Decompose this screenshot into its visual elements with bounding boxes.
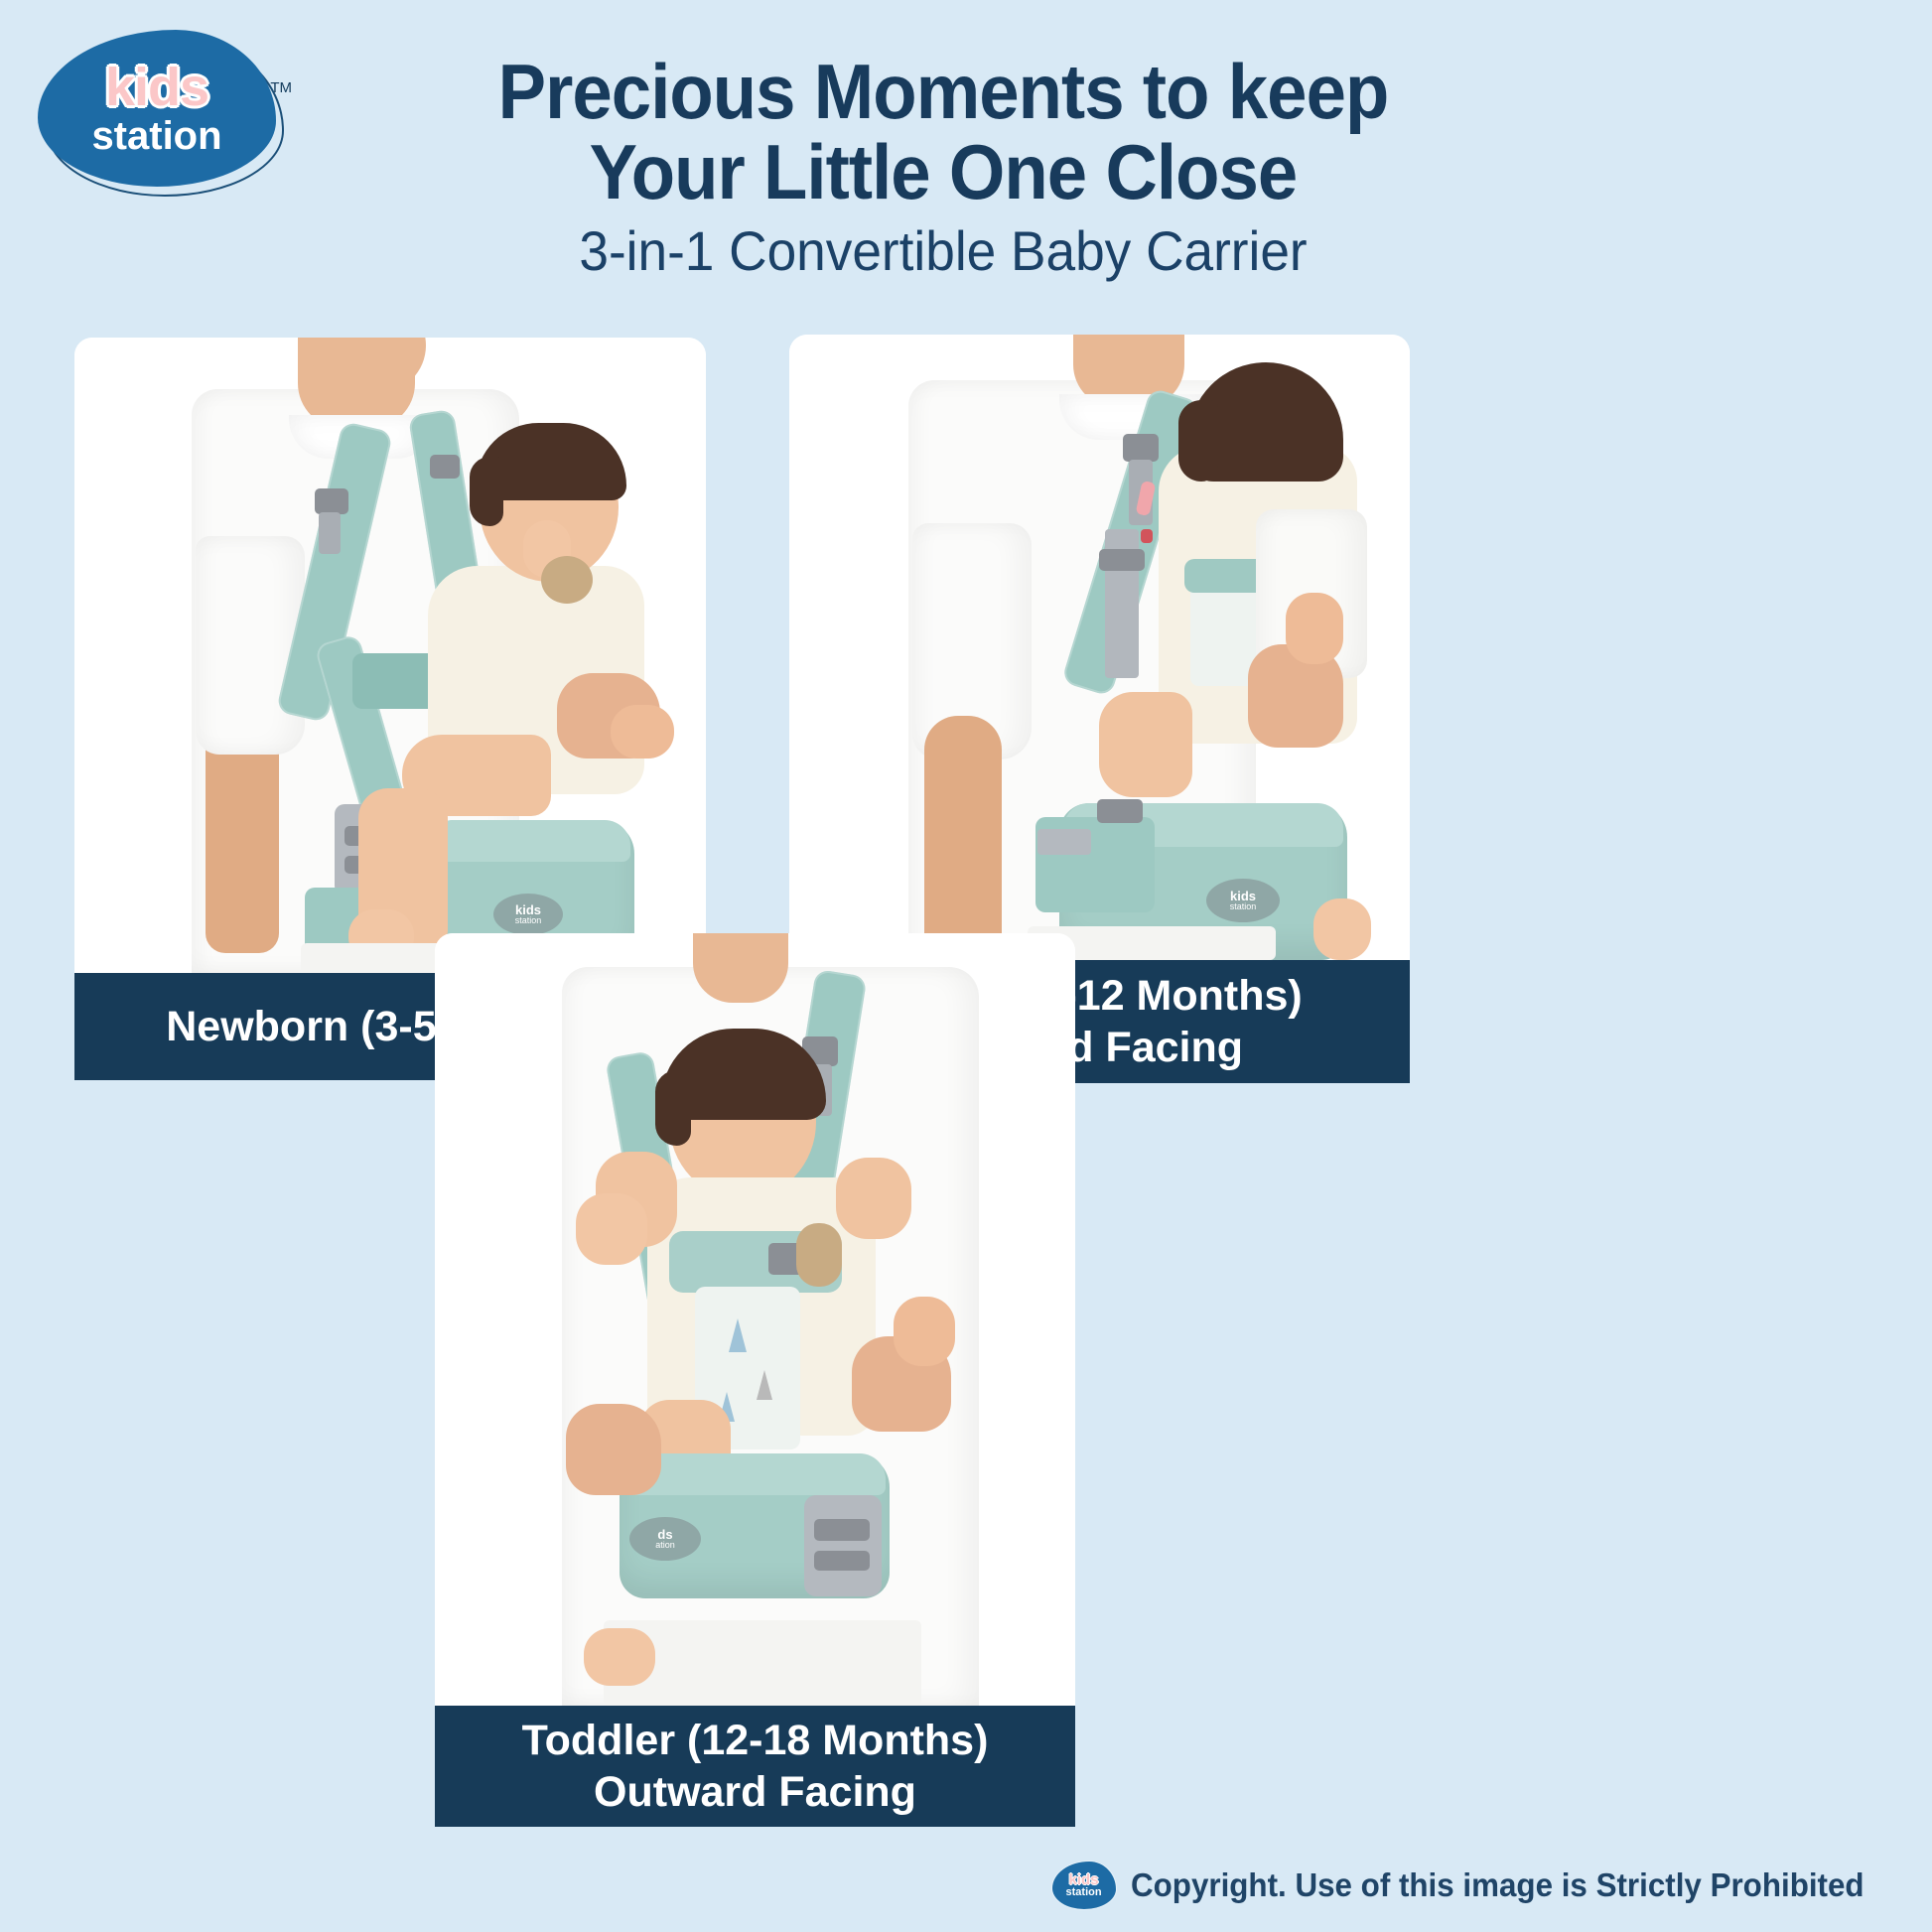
card-toddler-caption: Toddler (12-18 Months) Outward Facing	[435, 1706, 1075, 1827]
brand-logo: kids station TM	[30, 22, 298, 206]
logo-kids-text: kids	[105, 61, 208, 114]
footer: kids station Copyright. Use of this imag…	[0, 1861, 1932, 1910]
caption-line: Toddler (12-18 Months)	[522, 1715, 989, 1766]
card-toddler: ds ation Toddler (12-18 Months) Outward …	[435, 933, 1075, 1827]
logo-station-text: station	[91, 116, 221, 156]
footer-logo-kids-text: kids	[1069, 1872, 1099, 1887]
product-brand-patch: kids station	[1206, 879, 1280, 922]
patch-station-text: ation	[655, 1541, 675, 1550]
footer-logo-station-text: station	[1066, 1887, 1102, 1898]
product-brand-patch: ds ation	[629, 1517, 701, 1561]
trademark-icon: TM	[270, 79, 292, 96]
copyright-notice: Copyright. Use of this image is Strictly…	[1131, 1866, 1864, 1904]
card-toddler-photo: ds ation	[435, 933, 1075, 1706]
caption-line: Outward Facing	[594, 1766, 916, 1818]
logo-text: kids station	[38, 30, 276, 187]
footer-logo: kids station	[1051, 1861, 1117, 1910]
headline-line-2: Your Little One Close	[344, 132, 1544, 212]
page-subtitle: 3-in-1 Convertible Baby Carrier	[331, 220, 1557, 282]
card-newborn-photo: kids station	[74, 338, 706, 973]
patch-station-text: station	[515, 916, 542, 925]
page-title: Precious Moments to keep Your Little One…	[344, 52, 1544, 212]
patch-station-text: station	[1230, 902, 1257, 911]
product-brand-patch: kids station	[493, 894, 563, 935]
buckle-icon	[430, 455, 460, 479]
buckle-icon	[315, 488, 348, 514]
buckle-icon	[1123, 434, 1159, 462]
card-infant-photo: kids station	[789, 335, 1410, 960]
headline-line-1: Precious Moments to keep	[344, 52, 1544, 132]
